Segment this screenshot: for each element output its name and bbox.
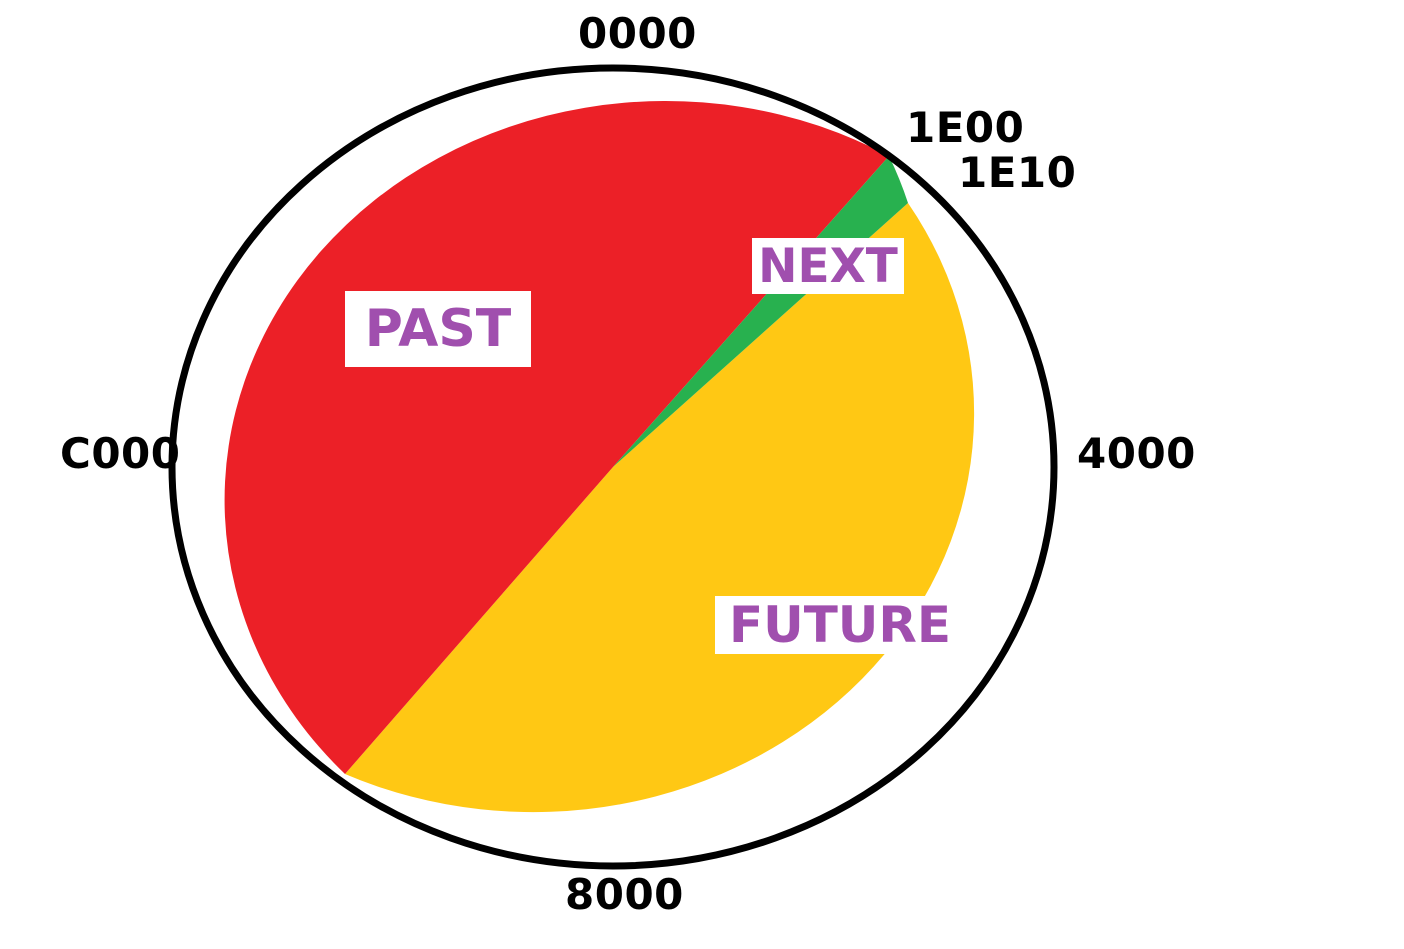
wheel-diagram-canvas: 0000 1E00 1E10 4000 8000 C000 PAST NEXT … [0,0,1404,949]
axis-label-1e00: 1E00 [906,107,1024,149]
region-label-past: PAST [345,291,531,367]
axis-label-c000: C000 [60,433,181,475]
axis-label-0000: 0000 [578,13,697,55]
region-label-next: NEXT [752,238,904,294]
axis-label-1e10: 1E10 [958,152,1076,194]
axis-label-4000: 4000 [1077,433,1196,475]
axis-label-8000: 8000 [565,874,684,916]
region-label-future: FUTURE [715,596,965,654]
